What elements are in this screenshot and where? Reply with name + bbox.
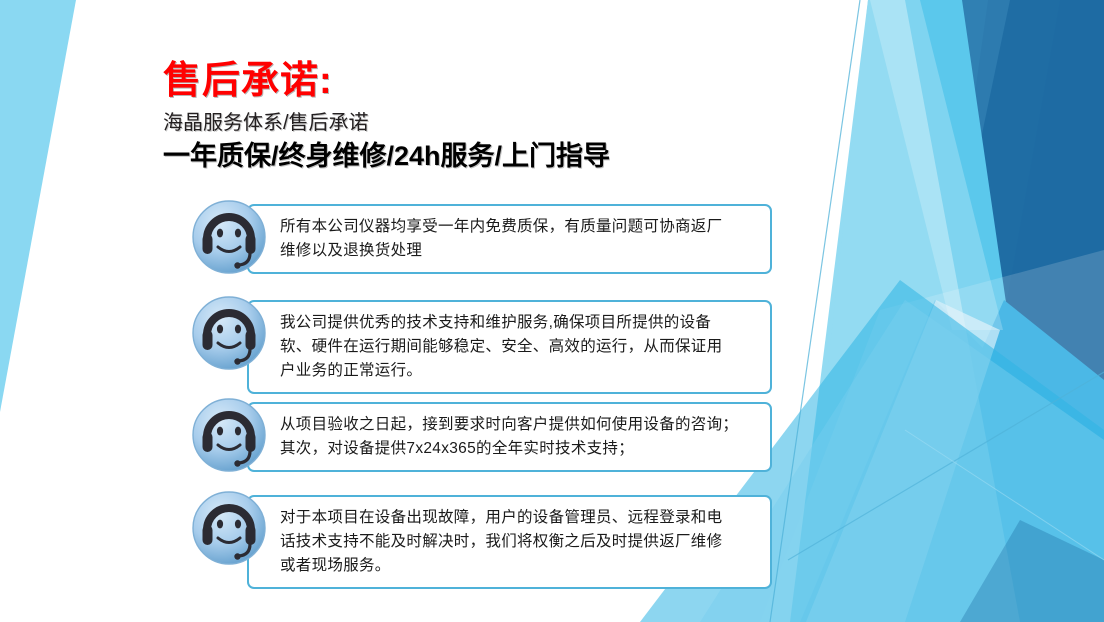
commitment-text: 我公司提供优秀的技术支持和维护服务,确保项目所提供的设备 软、硬件在运行期间能够… — [280, 311, 756, 383]
headset-avatar-icon — [190, 489, 268, 567]
commitment-text: 从项目验收之日起，接到要求时向客户提供如何使用设备的咨询； 其次，对设备提供7x… — [280, 413, 756, 461]
speech-bubble: 从项目验收之日起，接到要求时向客户提供如何使用设备的咨询； 其次，对设备提供7x… — [247, 402, 772, 472]
page-subheading: 一年质保/终身维修/24h服务/上门指导 — [163, 141, 863, 172]
speech-bubble: 所有本公司仪器均享受一年内免费质保，有质量问题可协商返厂 维修以及退换货处理 — [247, 204, 772, 274]
headset-avatar-icon — [190, 396, 268, 474]
header-block: 售后承诺: 海晶服务体系/售后承诺 一年质保/终身维修/24h服务/上门指导 — [163, 62, 863, 172]
commitment-text: 对于本项目在设备出现故障，用户的设备管理员、远程登录和电 话技术支持不能及时解决… — [280, 506, 756, 578]
speech-bubble: 我公司提供优秀的技术支持和维护服务,确保项目所提供的设备 软、硬件在运行期间能够… — [247, 300, 772, 394]
headset-avatar-icon — [190, 198, 268, 276]
speech-bubble: 对于本项目在设备出现故障，用户的设备管理员、远程登录和电 话技术支持不能及时解决… — [247, 495, 772, 589]
headset-avatar-icon — [190, 294, 268, 372]
breadcrumb: 海晶服务体系/售后承诺 — [163, 111, 863, 135]
commitment-text: 所有本公司仪器均享受一年内免费质保，有质量问题可协商返厂 维修以及退换货处理 — [280, 215, 756, 263]
page-title: 售后承诺: — [163, 62, 863, 102]
slide-canvas: 售后承诺: 海晶服务体系/售后承诺 一年质保/终身维修/24h服务/上门指导 所… — [0, 0, 1104, 622]
